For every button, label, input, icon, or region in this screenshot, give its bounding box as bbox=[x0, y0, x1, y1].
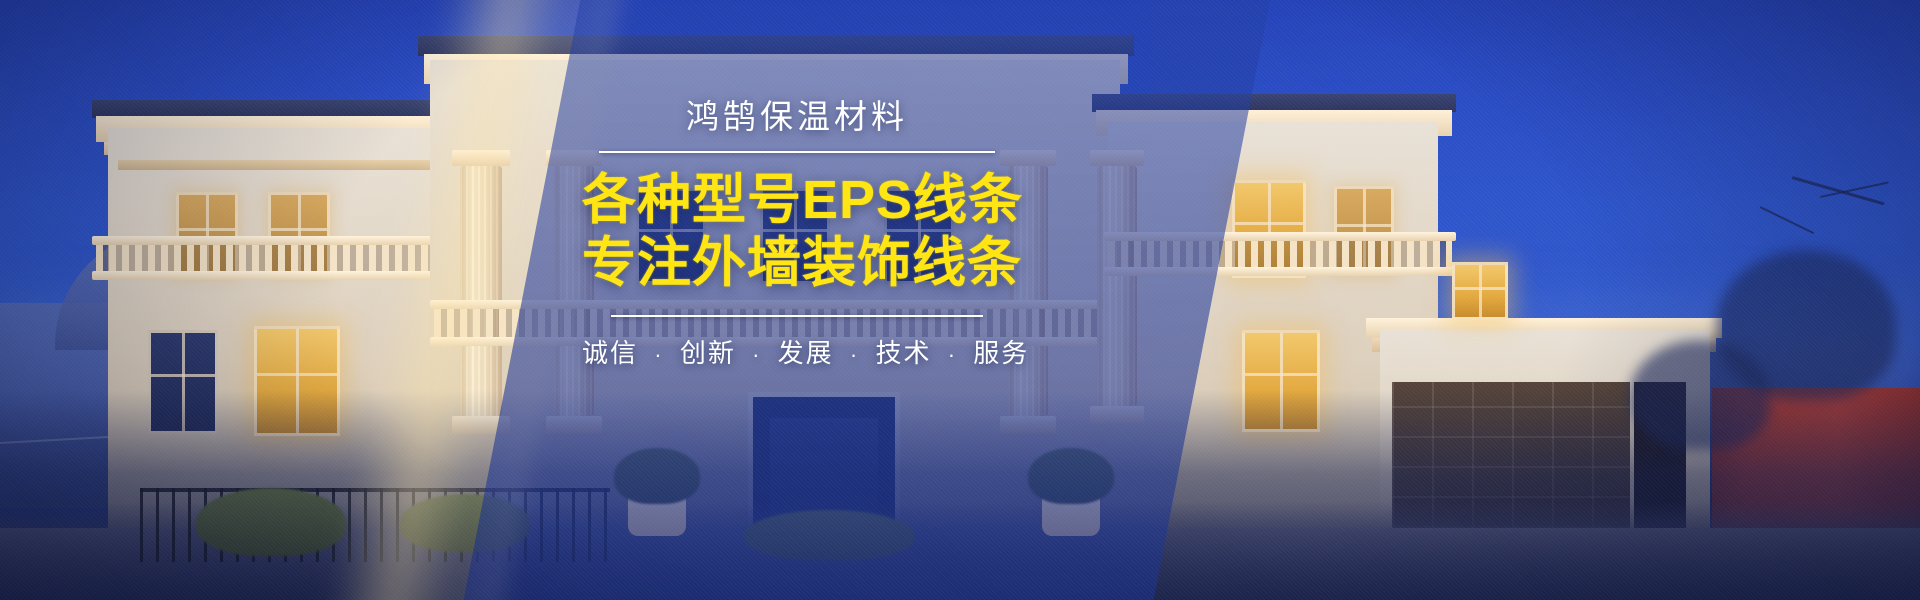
banner-text-block: 鸿鹄保温材料 各种型号EPS线条 专注外墙装饰线条 诚信 · 创新 · 发展 ·… bbox=[582, 96, 1012, 370]
tagline: 诚信 · 创新 · 发展 · 技术 · 服务 bbox=[582, 333, 1012, 370]
tagline-separator: · bbox=[941, 342, 964, 367]
tagline-item-2: 创新 bbox=[680, 338, 736, 368]
tagline-separator: · bbox=[745, 342, 768, 367]
tagline-separator: · bbox=[647, 342, 670, 367]
tagline-item-1: 诚信 bbox=[582, 338, 638, 368]
window-lit bbox=[1452, 262, 1508, 320]
tagline-separator: · bbox=[843, 342, 866, 367]
left-wing-eave bbox=[118, 160, 438, 170]
tree-branch bbox=[1792, 176, 1885, 205]
shrub bbox=[196, 488, 346, 556]
tree-branch bbox=[1760, 206, 1815, 234]
headline-line-1: 各种型号EPS线条 bbox=[582, 169, 1012, 232]
promo-banner: 鸿鹄保温材料 各种型号EPS线条 专注外墙装饰线条 诚信 · 创新 · 发展 ·… bbox=[0, 0, 1920, 600]
headline-line-2: 专注外墙装饰线条 bbox=[582, 232, 1012, 295]
tagline-item-4: 技术 bbox=[875, 338, 931, 368]
divider-bottom bbox=[611, 315, 983, 317]
tagline-item-5: 服务 bbox=[973, 338, 1029, 368]
brand-name: 鸿鹄保温材料 bbox=[582, 96, 1012, 137]
divider-top bbox=[599, 151, 995, 153]
tagline-item-3: 发展 bbox=[778, 338, 834, 368]
headline: 各种型号EPS线条 专注外墙装饰线条 bbox=[582, 169, 1012, 294]
